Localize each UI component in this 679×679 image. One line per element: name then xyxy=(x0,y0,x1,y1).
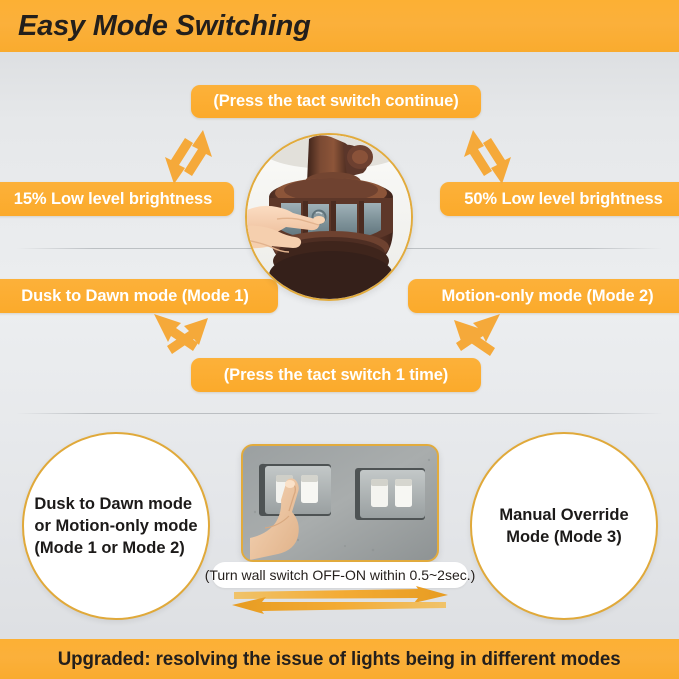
sensor-photo xyxy=(245,133,413,301)
arrow-pair-bottom-left xyxy=(140,308,236,372)
arrow-pair-top-right xyxy=(440,126,536,190)
mode-circle-right: Manual Override Mode (Mode 3) xyxy=(470,432,658,620)
mode-circle-right-text: Manual Override Mode (Mode 3) xyxy=(499,504,628,549)
double-horizontal-arrow-icon xyxy=(222,586,458,622)
infographic-page: Easy Mode Switching (Press the tact swit… xyxy=(0,0,679,679)
arrow-pair-bottom-right xyxy=(440,308,536,372)
divider-lower xyxy=(16,413,663,414)
wall-switch-illustration xyxy=(243,446,437,560)
footer-banner: Upgraded: resolving the issue of lights … xyxy=(0,639,679,679)
wall-switch-photo xyxy=(241,444,439,562)
wall-switch-caption: (Turn wall switch OFF-ON within 0.5~2sec… xyxy=(212,562,468,588)
header-banner: Easy Mode Switching xyxy=(0,0,679,52)
double-arrow-icon xyxy=(440,308,536,372)
arrow-pair-top-left xyxy=(140,126,236,190)
mode-circle-left: Dusk to Dawn mode or Motion-only mode (M… xyxy=(22,432,210,620)
double-arrow-icon xyxy=(140,308,236,372)
cycle-left-bottom-label: Dusk to Dawn mode (Mode 1) xyxy=(0,279,278,313)
double-arrow-icon xyxy=(440,126,536,190)
page-title: Easy Mode Switching xyxy=(18,10,311,43)
footer-text: Upgraded: resolving the issue of lights … xyxy=(58,648,621,671)
sensor-illustration xyxy=(247,135,411,299)
cycle-top-label: (Press the tact switch continue) xyxy=(191,85,481,118)
double-arrow-icon xyxy=(140,126,236,190)
bidirectional-arrow xyxy=(222,586,458,622)
mode-circle-left-text: Dusk to Dawn mode or Motion-only mode (M… xyxy=(34,493,197,560)
